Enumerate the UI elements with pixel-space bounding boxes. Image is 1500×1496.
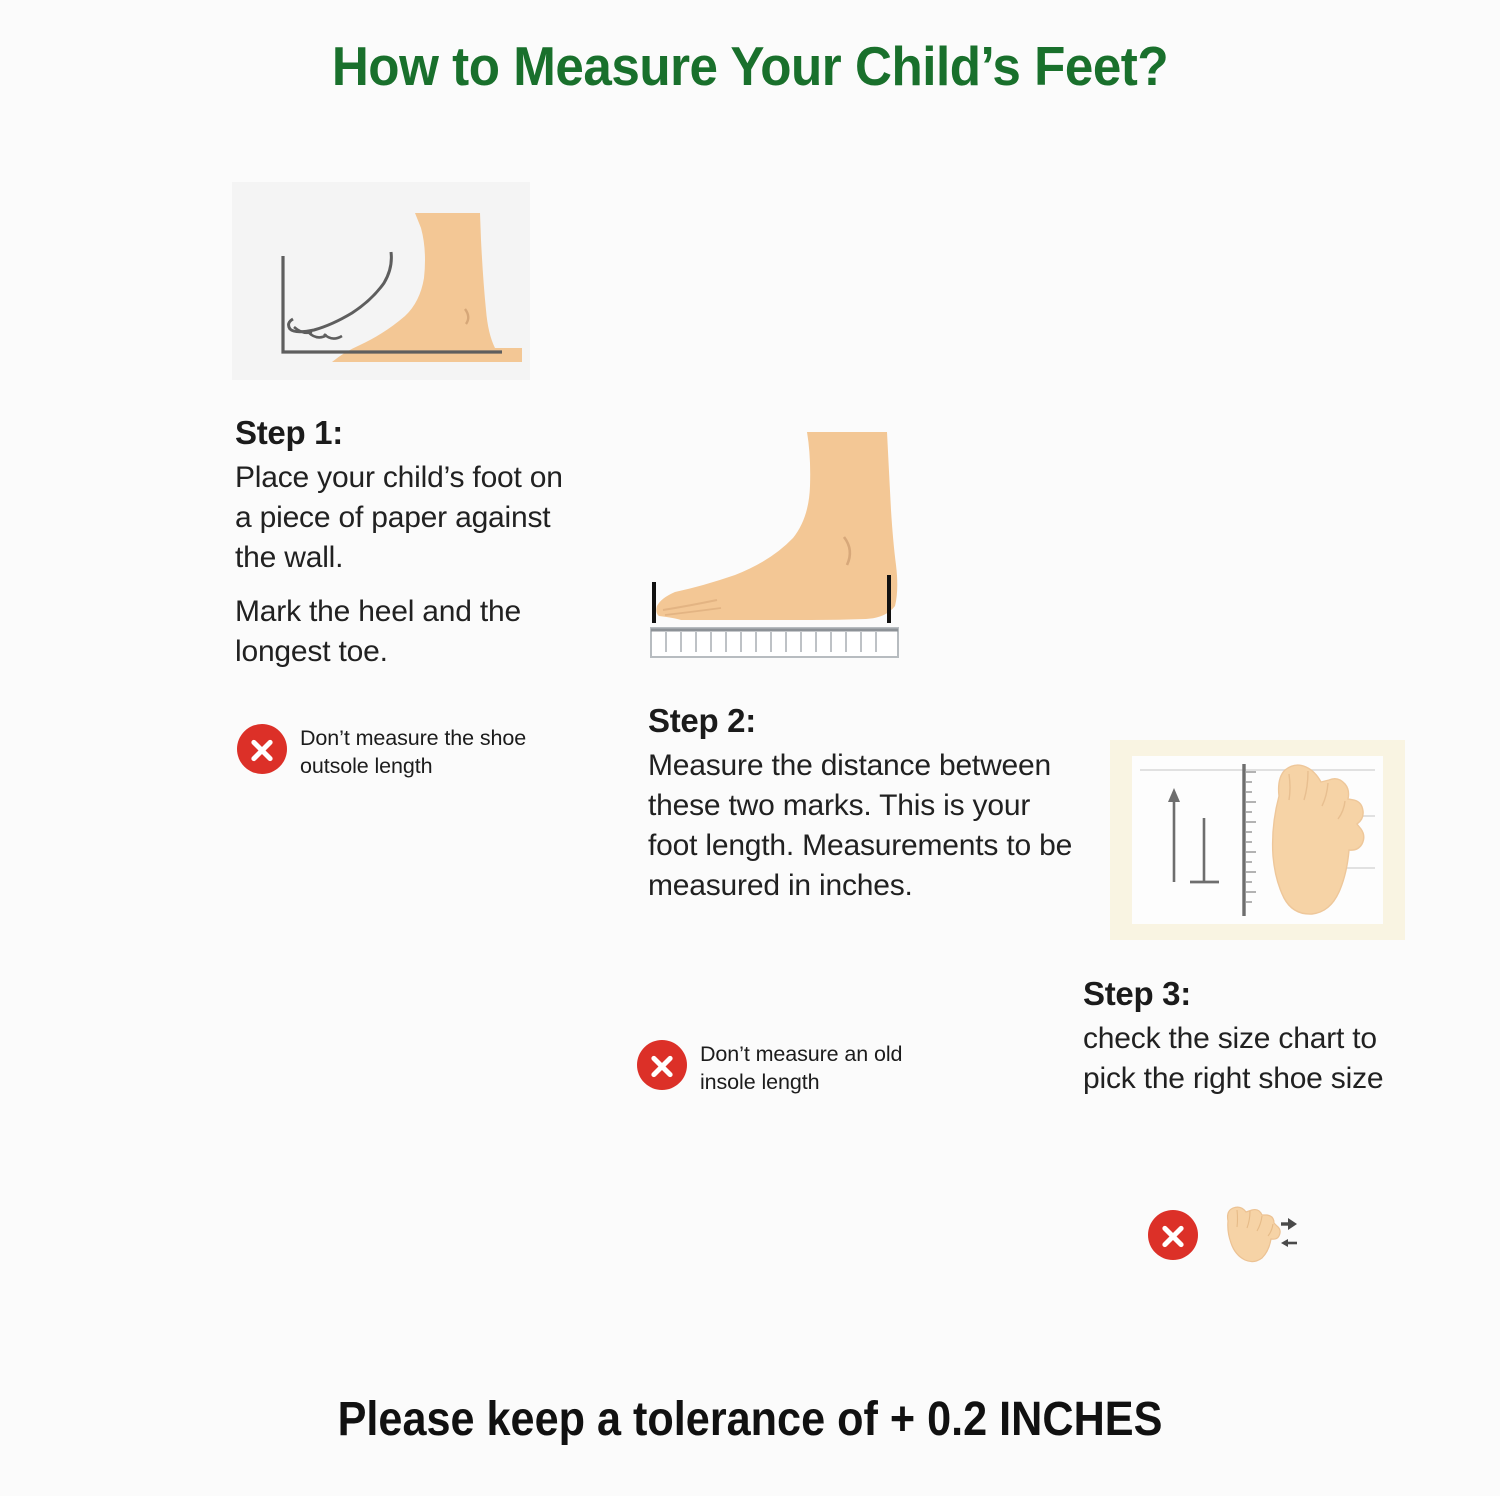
page-title: How to Measure Your Child’s Feet? — [53, 34, 1448, 98]
step-1-warning: Don’t measure the shoe outsole length — [237, 722, 537, 780]
step-3-block: Step 3: check the size chart to pick the… — [1083, 975, 1423, 1099]
step-2-warning-text: Don’t measure an old insole length — [700, 1038, 937, 1096]
foot-side-view-with-ruler-icon — [643, 420, 933, 665]
step-2-paragraph-1: Measure the distance between these two m… — [648, 746, 1078, 906]
step-3-heading: Step 3: — [1083, 975, 1423, 1013]
step-1-paragraph-2: Mark the heel and the longest toe. — [235, 592, 565, 672]
step-2-warning: Don’t measure an old insole length — [637, 1038, 937, 1096]
step-3-warning — [1148, 1203, 1298, 1265]
step-1-warning-text: Don’t measure the shoe outsole length — [300, 722, 537, 780]
tolerance-note: Please keep a tolerance of + 0.2 INCHES — [75, 1392, 1425, 1447]
step-2-block: Step 2: Measure the distance between the… — [648, 702, 1078, 906]
foot-sole-on-measuring-chart-icon — [1132, 756, 1383, 924]
step-1-paragraph-1: Place your child’s foot on a piece of pa… — [235, 458, 565, 578]
step-2-heading: Step 2: — [648, 702, 1078, 740]
red-x-circle-icon — [1148, 1210, 1198, 1260]
step-2-illustration — [643, 420, 933, 665]
step-2-body: Measure the distance between these two m… — [648, 746, 1078, 906]
step-3-illustration-inner — [1132, 756, 1383, 924]
foot-sole-with-arrows-icon — [1214, 1203, 1298, 1265]
red-x-circle-icon — [237, 724, 287, 774]
step-3-illustration — [1110, 740, 1405, 940]
step-1-body: Place your child’s foot on a piece of pa… — [235, 458, 565, 671]
red-x-circle-icon — [637, 1040, 687, 1090]
step-3-body: check the size chart to pick the right s… — [1083, 1019, 1423, 1099]
foot-side-view-against-wall-icon — [232, 182, 530, 380]
step-1-illustration — [232, 182, 530, 380]
step-1-heading: Step 1: — [235, 414, 565, 452]
step-3-paragraph-1: check the size chart to pick the right s… — [1083, 1019, 1423, 1099]
infographic-page: How to Measure Your Child’s Feet? Step 1… — [0, 0, 1500, 1496]
step-1-block: Step 1: Place your child’s foot on a pie… — [235, 414, 565, 671]
